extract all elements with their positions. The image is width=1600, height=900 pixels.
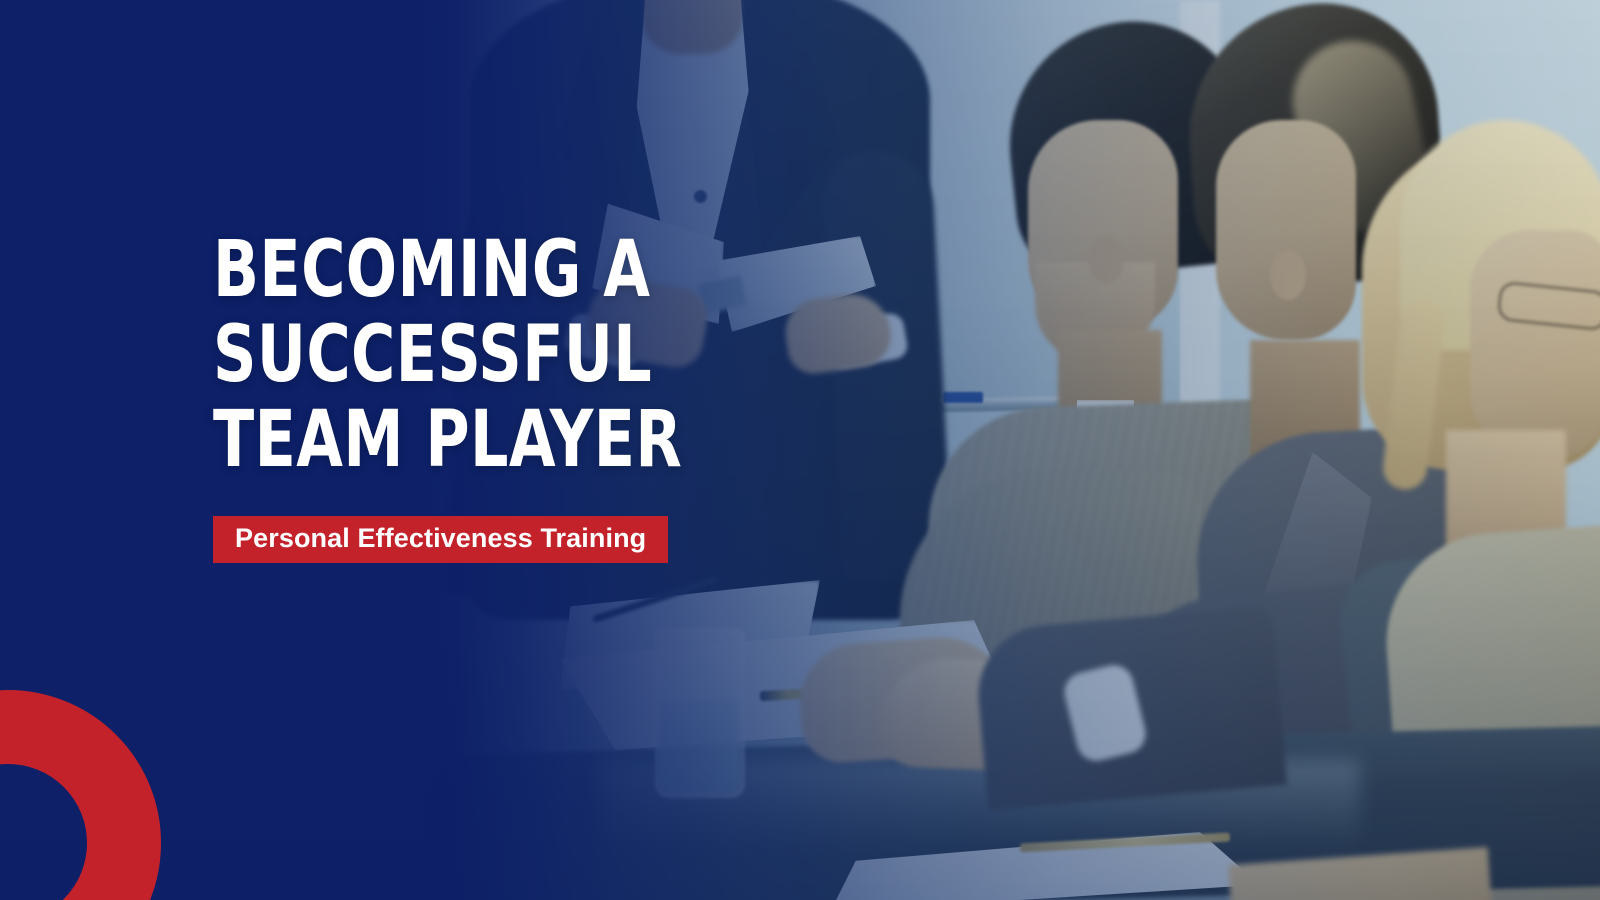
page-title: BECOMING A SUCCESSFUL TEAM PLAYER bbox=[213, 228, 987, 483]
headline-line-3: TEAM PLAYER bbox=[213, 398, 987, 483]
headline-line-2: SUCCESSFUL bbox=[213, 313, 987, 398]
slide-canvas: BECOMING A SUCCESSFUL TEAM PLAYER Person… bbox=[0, 0, 1600, 900]
subtitle-banner: Personal Effectiveness Training bbox=[213, 516, 668, 563]
title-block: BECOMING A SUCCESSFUL TEAM PLAYER Person… bbox=[213, 228, 1113, 563]
subtitle-text: Personal Effectiveness Training bbox=[235, 525, 646, 552]
headline-line-1: BECOMING A bbox=[213, 228, 987, 313]
